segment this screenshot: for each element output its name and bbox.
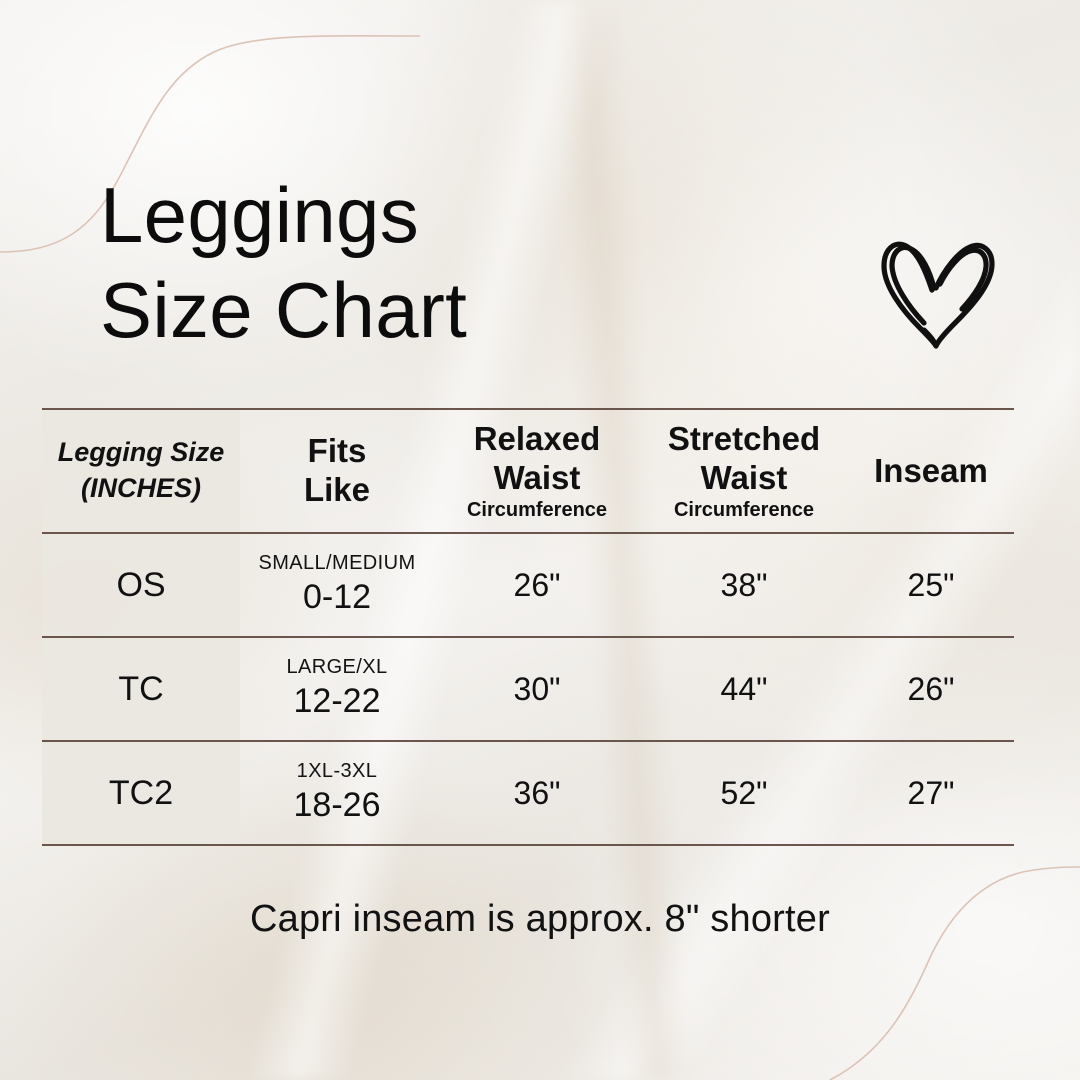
cell-inseam: 26" (848, 637, 1014, 741)
cell-fits: LARGE/XL 12-22 (240, 637, 434, 741)
column-header-size: Legging Size (INCHES) (42, 409, 240, 533)
cell-fits: 1XL-3XL 18-26 (240, 741, 434, 845)
cell-relaxed-waist: 30" (434, 637, 640, 741)
column-header-relaxed-note: Circumference (434, 498, 640, 522)
size-chart-canvas: Leggings Size Chart Legging Size (0, 0, 1080, 1080)
heart-doodle-icon (868, 224, 1008, 360)
cell-fits-range: 18-26 (240, 785, 434, 826)
column-header-size-label: Legging Size (42, 435, 240, 471)
column-header-stretched-waist: Stretched Waist Circumference (640, 409, 848, 533)
column-header-relaxed-waist: Relaxed Waist Circumference (434, 409, 640, 533)
cell-size: TC2 (42, 741, 240, 845)
cell-fits-range: 0-12 (240, 577, 434, 618)
title-line-2: Size Chart (100, 263, 800, 358)
table-row: OS SMALL/MEDIUM 0-12 26" 38" 25" (42, 533, 1014, 637)
column-header-inseam: Inseam (848, 409, 1014, 533)
size-table-container: Legging Size (INCHES) Fits Like Relaxed … (42, 408, 1014, 846)
size-table: Legging Size (INCHES) Fits Like Relaxed … (42, 408, 1014, 846)
cell-stretched-waist: 38" (640, 533, 848, 637)
footer-note: Capri inseam is approx. 8" shorter (0, 898, 1080, 941)
cell-fits-label: LARGE/XL (240, 656, 434, 679)
title-line-1: Leggings (100, 168, 800, 263)
column-header-fits-line1: Fits (240, 432, 434, 471)
cell-stretched-waist: 44" (640, 637, 848, 741)
cell-fits-label: 1XL-3XL (240, 760, 434, 783)
corner-swoosh-bottom-right-icon (820, 840, 1080, 1080)
cell-size: OS (42, 533, 240, 637)
table-row: TC2 1XL-3XL 18-26 36" 52" 27" (42, 741, 1014, 845)
column-header-fits: Fits Like (240, 409, 434, 533)
cell-inseam: 27" (848, 741, 1014, 845)
cell-relaxed-waist: 36" (434, 741, 640, 845)
cell-fits: SMALL/MEDIUM 0-12 (240, 533, 434, 637)
cell-fits-label: SMALL/MEDIUM (240, 552, 434, 575)
column-header-relaxed-line2: Waist (434, 459, 640, 498)
cell-size: TC (42, 637, 240, 741)
column-header-stretched-line1: Stretched (640, 420, 848, 459)
table-row: TC LARGE/XL 12-22 30" 44" 26" (42, 637, 1014, 741)
table-header-row: Legging Size (INCHES) Fits Like Relaxed … (42, 409, 1014, 533)
cell-stretched-waist: 52" (640, 741, 848, 845)
column-header-inseam-label: Inseam (848, 452, 1014, 490)
column-header-fits-line2: Like (240, 471, 434, 510)
cell-relaxed-waist: 26" (434, 533, 640, 637)
cell-inseam: 25" (848, 533, 1014, 637)
column-header-stretched-note: Circumference (640, 498, 848, 522)
column-header-size-units: (INCHES) (42, 471, 240, 507)
page-title: Leggings Size Chart (100, 168, 800, 358)
column-header-stretched-line2: Waist (640, 459, 848, 498)
cell-fits-range: 12-22 (240, 681, 434, 722)
column-header-relaxed-line1: Relaxed (434, 420, 640, 459)
